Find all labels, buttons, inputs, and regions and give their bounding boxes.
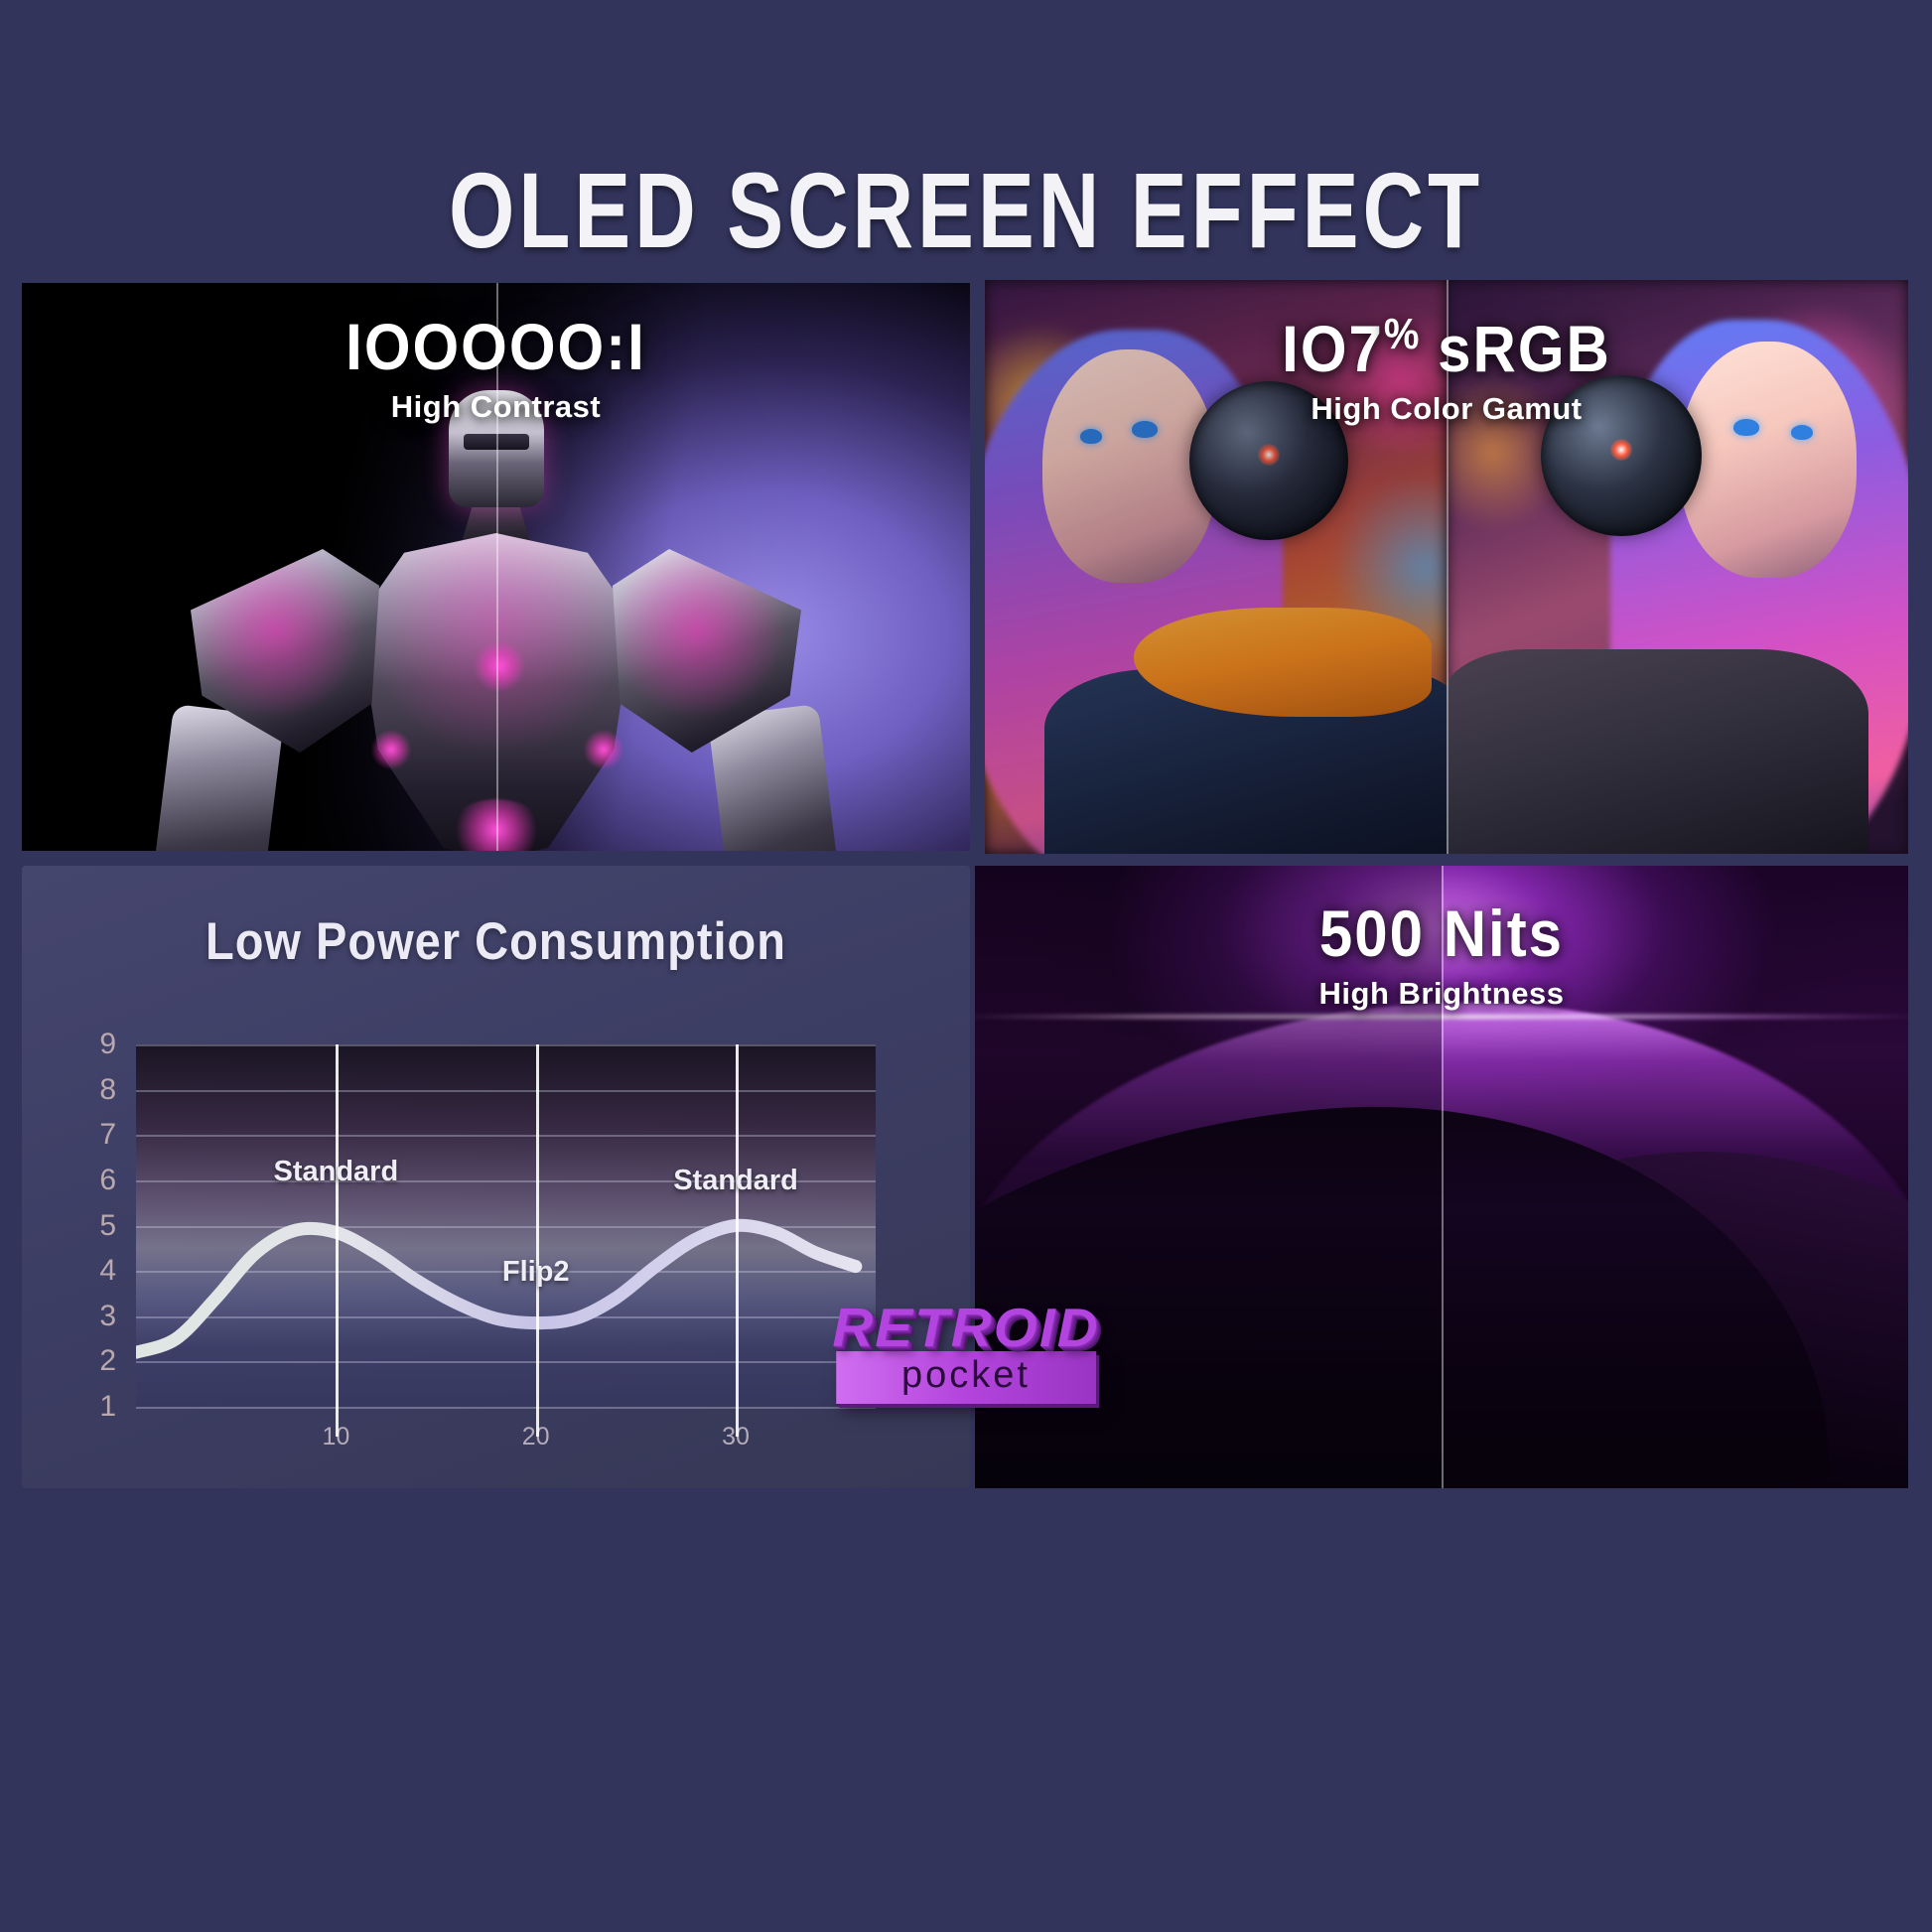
mech-core-glow	[474, 640, 525, 692]
mech-glow-left	[371, 730, 411, 769]
chart-y-tick-label: 2	[70, 1344, 116, 1378]
chart-marker-line	[536, 1044, 539, 1437]
chart-y-tick-label: 7	[70, 1118, 116, 1152]
headphone-led-right	[1610, 439, 1632, 461]
mech-glow-right	[584, 730, 623, 769]
chart-y-tick-label: 1	[70, 1390, 116, 1424]
panel-high-contrast[interactable]: IOOOOO:I High Contrast	[22, 283, 970, 851]
chart-title: Low Power Consumption	[22, 910, 970, 972]
chart-annotation-label: Flip2	[502, 1256, 570, 1289]
panel-high-color-gamut[interactable]: IO7% sRGB High Color Gamut	[985, 280, 1908, 854]
girl-eye-right	[1733, 419, 1759, 436]
chart-y-tick-label: 3	[70, 1300, 116, 1333]
chart-y-tick-label: 9	[70, 1028, 116, 1061]
brightness-dim-half	[975, 866, 1442, 1488]
chart-y-tick-label: 4	[70, 1254, 116, 1288]
mech-visor	[464, 434, 529, 450]
girl-face-right	[1680, 342, 1857, 578]
power-chart[interactable]: 123456789 102030 StandardFlip2Standard	[136, 1044, 876, 1407]
girl-eye-right-2	[1791, 425, 1813, 440]
chart-series-line	[136, 1044, 876, 1407]
gamut-dim-half	[985, 280, 1447, 854]
chart-y-tick-label: 8	[70, 1073, 116, 1107]
chart-annotation-label: Standard	[673, 1165, 798, 1197]
panel-low-power-consumption[interactable]: Low Power Consumption 123456789 102030	[22, 866, 970, 1488]
chart-y-tick-label: 5	[70, 1209, 116, 1243]
page-title: OLED SCREEN EFFECT	[29, 149, 1903, 272]
oled-screen-effect-page: OLED SCREEN EFFECT IOOOOO:I High Contras…	[0, 0, 1932, 1932]
chart-marker-line	[336, 1044, 339, 1437]
chart-gridline	[136, 1407, 876, 1409]
chart-annotation-label: Standard	[274, 1156, 399, 1188]
girl-jacket-right	[1447, 649, 1868, 854]
panel-high-brightness[interactable]: 500 Nits High Brightness	[975, 866, 1908, 1488]
chart-y-tick-label: 6	[70, 1164, 116, 1197]
girl-headphone-right	[1541, 375, 1702, 536]
chart-marker-line	[736, 1044, 739, 1437]
gamut-image-right	[1447, 280, 1908, 854]
